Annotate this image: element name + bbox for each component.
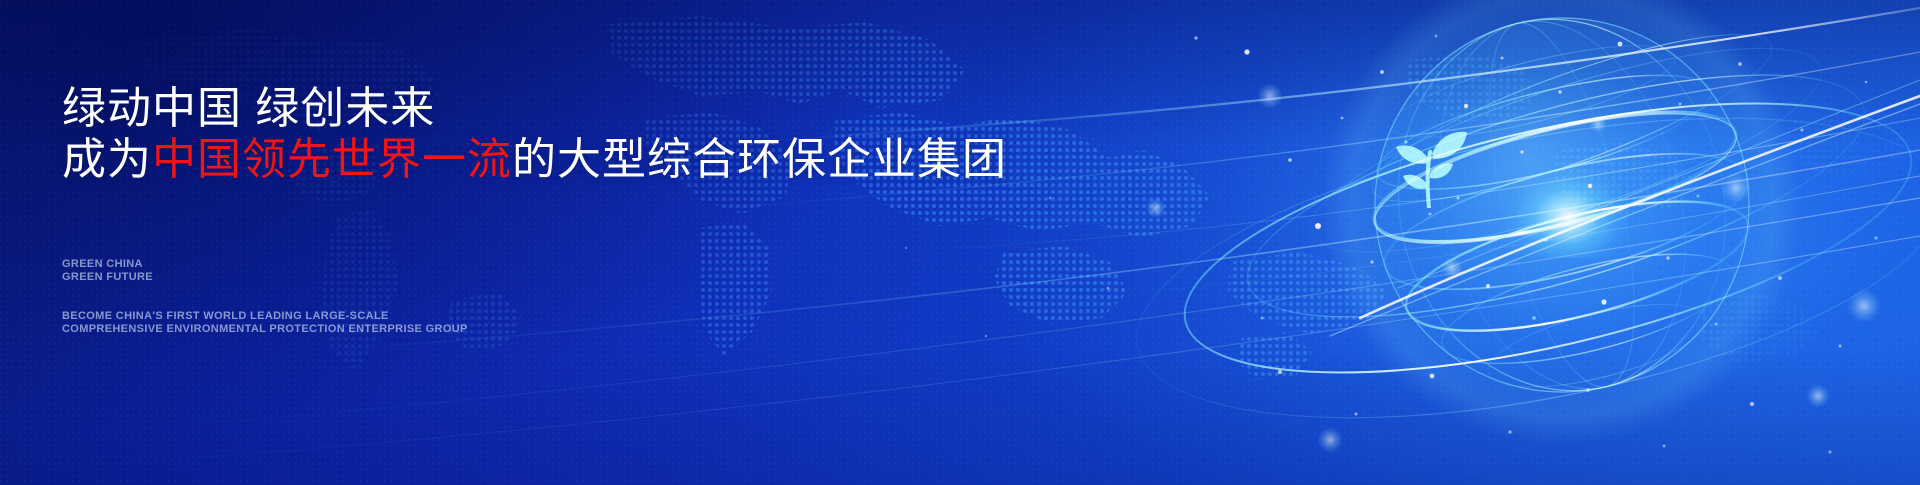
- tagline-become-china-first: BECOME CHINA'S FIRST WORLD LEADING LARGE…: [62, 310, 468, 336]
- banner-text-block: 绿动中国 绿创未来 成为中国领先世界一流的大型综合环保企业集团 GREEN CH…: [62, 0, 1062, 485]
- tagline-line-green-china: GREEN CHINA: [62, 258, 153, 271]
- tagline-line-comprehensive: COMPREHENSIVE ENVIRONMENTAL PROTECTION E…: [62, 323, 468, 336]
- headline-line-2-highlight: 中国领先世界一流: [152, 135, 512, 184]
- headline-line-2: 成为中国领先世界一流的大型综合环保企业集团: [62, 134, 1007, 186]
- hero-banner: 绿动中国 绿创未来 成为中国领先世界一流的大型综合环保企业集团 GREEN CH…: [0, 0, 1920, 485]
- headline-line-1: 绿动中国 绿创未来: [62, 83, 435, 135]
- tagline-line-green-future: GREEN FUTURE: [62, 271, 153, 284]
- headline-line-2-prefix: 成为: [62, 135, 152, 184]
- headline-line-1-text: 绿动中国 绿创未来: [62, 84, 435, 133]
- tagline-green-china: GREEN CHINA GREEN FUTURE: [62, 258, 153, 284]
- sprout-leaf-icon: [1372, 112, 1476, 212]
- headline-line-2-suffix: 的大型综合环保企业集团: [512, 135, 1007, 184]
- light-burst-glow: [1508, 168, 1628, 258]
- tagline-line-become: BECOME CHINA'S FIRST WORLD LEADING LARGE…: [62, 310, 468, 323]
